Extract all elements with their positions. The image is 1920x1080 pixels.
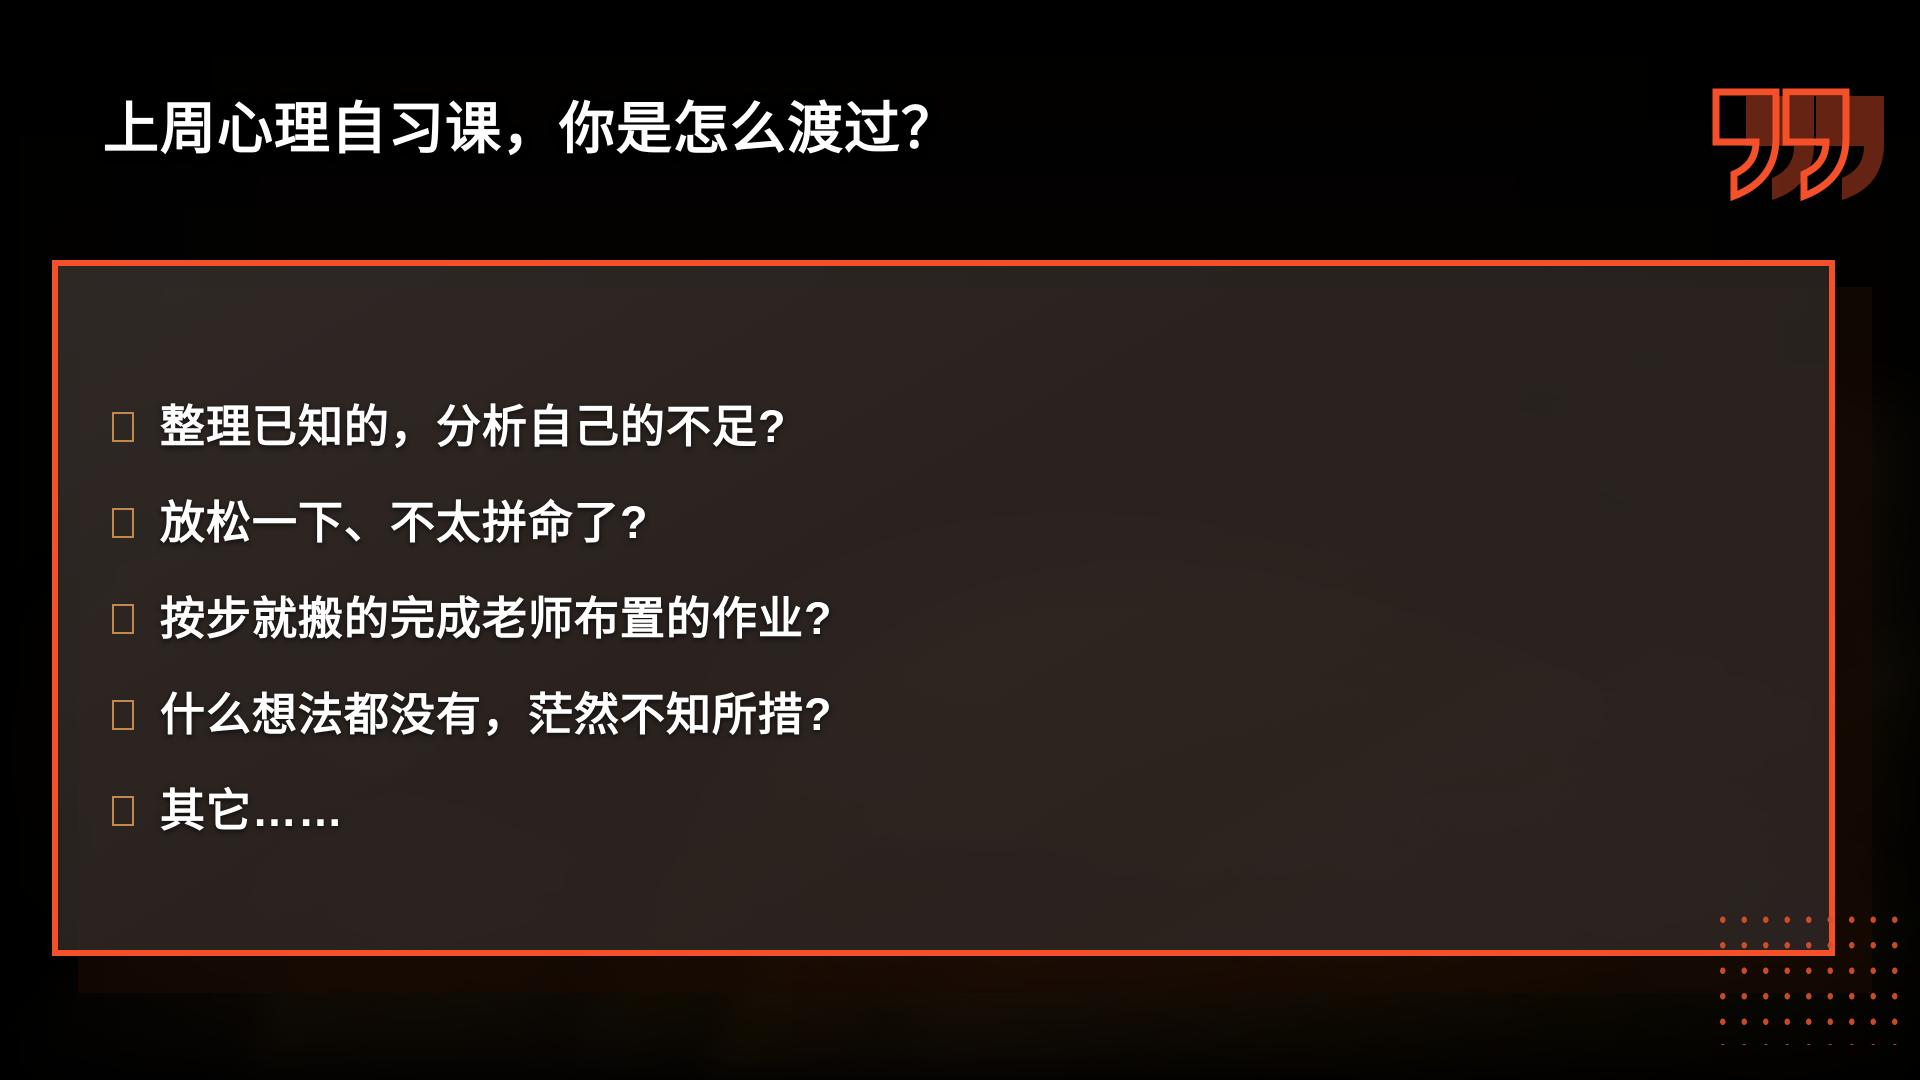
square-bullet-icon: [112, 604, 134, 634]
square-bullet-icon: [112, 412, 134, 442]
page-title: 上周心理自习课，你是怎么渡过？: [103, 95, 958, 162]
bullet-list: 整理已知的，分析自己的不足? 放松一下、不太拼命了? 按步就搬的完成老师布置的作…: [112, 378, 1712, 858]
list-item[interactable]: 整理已知的，分析自己的不足?: [112, 378, 1712, 474]
list-item-label: 什么想法都没有，茫然不知所措?: [160, 692, 833, 737]
list-item[interactable]: 放松一下、不太拼命了?: [112, 474, 1712, 570]
list-item[interactable]: 按步就搬的完成老师布置的作业?: [112, 570, 1712, 666]
list-item[interactable]: 什么想法都没有，茫然不知所措?: [112, 666, 1712, 762]
list-item[interactable]: 其它……: [112, 762, 1712, 858]
list-item-label: 整理已知的，分析自己的不足?: [160, 404, 787, 449]
square-bullet-icon: [112, 796, 134, 826]
dot-grid-decoration: [1708, 903, 1908, 1045]
slide-canvas: 上周心理自习课，你是怎么渡过？ 整理已知的，分析自己的不足?: [0, 0, 1920, 1080]
square-bullet-icon: [112, 508, 134, 538]
square-bullet-icon: [112, 700, 134, 730]
quote-marks-icon: [1702, 82, 1892, 202]
list-item-label: 放松一下、不太拼命了?: [160, 500, 649, 545]
list-item-label: 按步就搬的完成老师布置的作业?: [160, 596, 833, 641]
list-item-label: 其它……: [160, 788, 344, 833]
